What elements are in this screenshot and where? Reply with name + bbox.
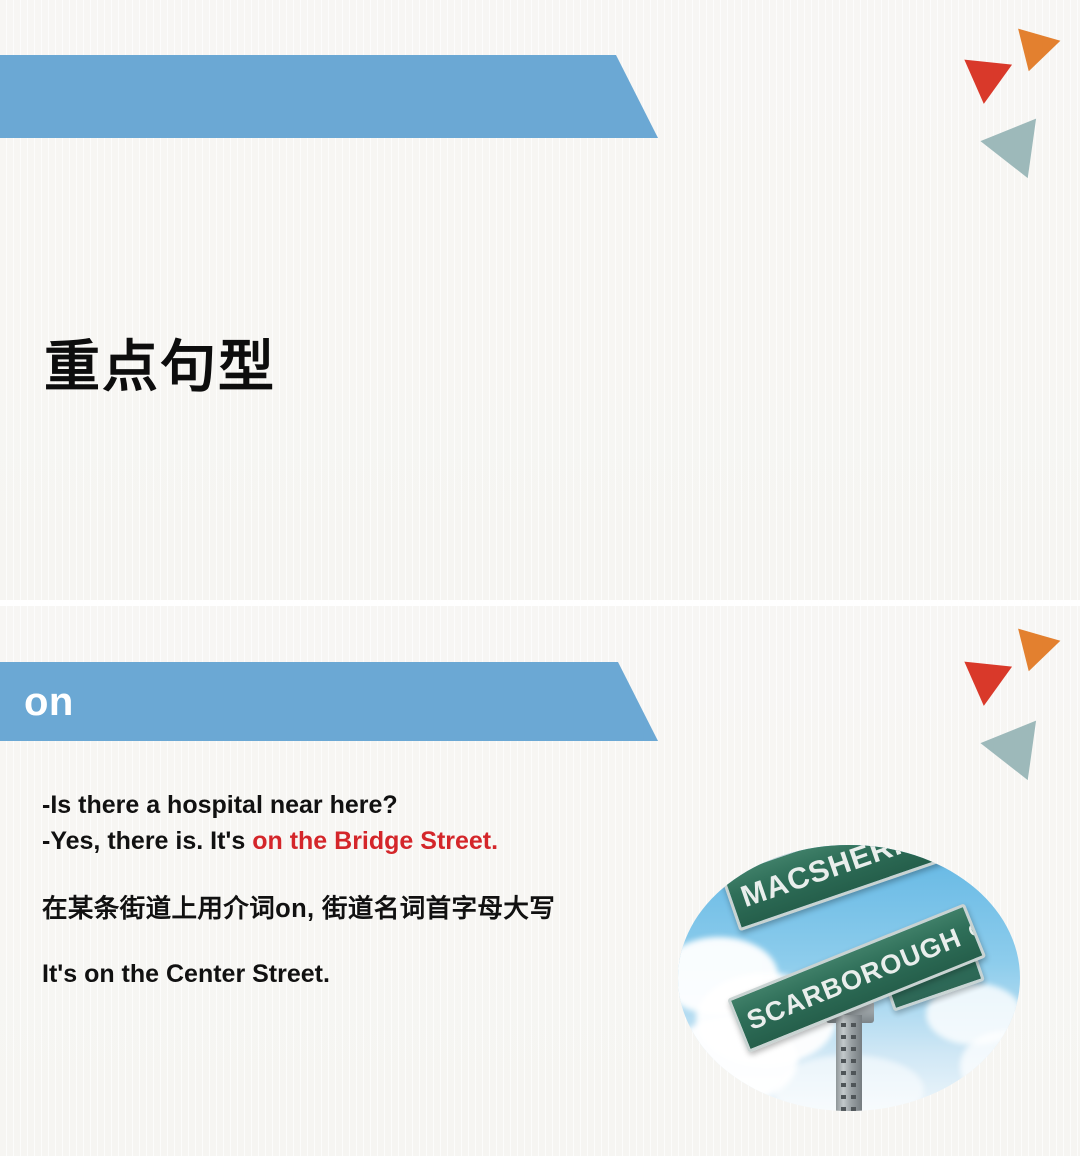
spacer: [42, 927, 662, 957]
spacer: [42, 859, 662, 891]
banner-label-on: on: [24, 682, 74, 722]
example-answer-prefix: -Yes, there is. It's: [42, 827, 252, 855]
example-sentence: It's on the Center Street.: [42, 957, 662, 993]
teal-triangle-icon: [980, 721, 1055, 792]
street-sign-photo: DR MACSHERR SCARBOROUGH CT: [678, 845, 1020, 1111]
orange-triangle-icon: [1008, 29, 1061, 78]
slide-deck: 重点句型 on -Is there a hospital near here? …: [0, 0, 1080, 1156]
teal-triangle-icon: [980, 119, 1055, 190]
street-sign-secondary-suffix: CT: [966, 913, 987, 942]
slide-on-preposition: on -Is there a hospital near here? -Yes,…: [0, 606, 1080, 1156]
example-answer-highlight: on the Bridge Street.: [252, 827, 498, 855]
chinese-explanation: 在某条街道上用介词on, 街道名词首字母大写: [42, 891, 662, 927]
slide-title: 重点句型: [0, 0, 1080, 600]
lesson-body: -Is there a hospital near here? -Yes, th…: [42, 788, 662, 993]
banner-shape-top: [0, 55, 660, 138]
red-triangle-icon: [960, 662, 1012, 709]
sign-post: [836, 1015, 862, 1111]
street-sign-primary-text: MACSHERR: [737, 845, 920, 915]
banner-shape-bottom: on: [0, 662, 660, 741]
orange-triangle-icon: [1008, 629, 1061, 678]
page-title: 重点句型: [44, 338, 276, 397]
red-triangle-icon: [960, 60, 1012, 107]
example-answer: -Yes, there is. It's on the Bridge Stree…: [42, 824, 662, 860]
example-question: -Is there a hospital near here?: [42, 788, 662, 824]
